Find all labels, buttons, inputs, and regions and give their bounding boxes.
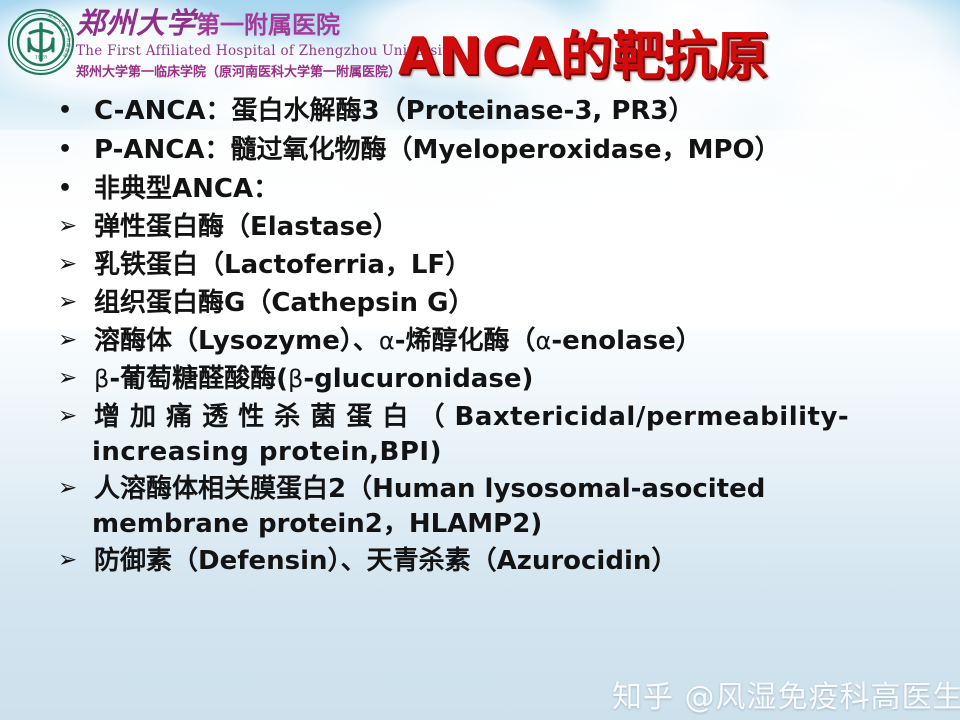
list-item: ➢ 增 加 痛 透 性 杀 菌 蛋 白 （ Baxtericidal/perme… (52, 404, 932, 465)
list-item-label: 乳铁蛋白（Lactoferria，LF） (94, 252, 932, 278)
presentation-slide: 1928 郑州大学第一附属医院 郑州大学第一附属医院 The First Aff… (0, 0, 960, 720)
list-item: • P-ANCA：髓过氧化物酶（Myeloperoxidase，MPO） (52, 137, 932, 163)
slide-title: ANCA的靶抗原 (398, 14, 768, 89)
hlamp2-line-2: membrane protein2，HLAMP2) (92, 511, 932, 537)
bpi-line-1: 增 加 痛 透 性 杀 菌 蛋 白 （ Baxtericidal/permeab… (94, 402, 849, 432)
zhihu-watermark: 知乎 @风湿免疫科高医生 (612, 672, 960, 716)
bullet-dot-icon: • (52, 176, 94, 200)
list-item-label: 组织蛋白酶G（Cathepsin G） (94, 290, 932, 316)
lysozyme-text-mid: -烯醇化酶（ (395, 326, 536, 356)
hospital-name-block: 郑州大学第一附属医院 The First Affiliated Hospital… (76, 8, 376, 80)
slide-header: 1928 郑州大学第一附属医院 郑州大学第一附属医院 The First Aff… (0, 0, 960, 92)
slide-body-list: • C-ANCA：蛋白水解酶3（Proteinase-3, PR3） • P-A… (52, 98, 932, 584)
lysozyme-text-pre: 溶酶体（Lysozyme）、 (94, 326, 379, 356)
list-item: • C-ANCA：蛋白水解酶3（Proteinase-3, PR3） (52, 98, 932, 124)
beta-symbol: β (94, 365, 109, 393)
glucuronidase-text-mid: -葡萄糖醛酸酶( (109, 364, 288, 394)
list-item-label: 增 加 痛 透 性 杀 菌 蛋 白 （ Baxtericidal/permeab… (94, 404, 932, 465)
bullet-arrow-icon: ➢ (52, 290, 94, 314)
svg-text:1928: 1928 (35, 55, 48, 61)
list-item: ➢ 防御素（Defensin）、天青杀素（Azurocidin） (52, 548, 932, 574)
bullet-arrow-icon: ➢ (52, 476, 94, 500)
hlamp2-line-1: 人溶酶体相关膜蛋白2（Human lysosomal-asocited (94, 474, 765, 504)
list-item-label: β-葡萄糖醛酸酶(β-glucuronidase) (94, 366, 932, 392)
hospital-name-suffix: 第一附属医院 (196, 10, 340, 39)
list-item: ➢ 组织蛋白酶G（Cathepsin G） (52, 290, 932, 316)
bullet-arrow-icon: ➢ (52, 404, 94, 428)
bullet-arrow-icon: ➢ (52, 214, 94, 238)
hospital-logo-icon: 1928 郑州大学第一附属医院 (6, 7, 76, 77)
list-item-label: C-ANCA：蛋白水解酶3（Proteinase-3, PR3） (94, 98, 932, 124)
list-item-label: P-ANCA：髓过氧化物酶（Myeloperoxidase，MPO） (94, 137, 932, 163)
hospital-name-subline: 郑州大学第一临床学院（原河南医科大学第一附属医院） (76, 61, 376, 80)
list-item-label: 溶酶体（Lysozyme）、α-烯醇化酶（α-enolase） (94, 328, 932, 354)
hospital-name-university: 郑州大学 (76, 6, 196, 40)
beta-symbol: β (288, 365, 303, 393)
list-item: ➢ 人溶酶体相关膜蛋白2（Human lysosomal-asocitedmem… (52, 476, 932, 537)
list-item: ➢ 弹性蛋白酶（Elastase） (52, 214, 932, 240)
list-item-label: 弹性蛋白酶（Elastase） (94, 214, 932, 240)
bullet-dot-icon: • (52, 98, 94, 122)
bullet-arrow-icon: ➢ (52, 548, 94, 572)
alpha-symbol: α (379, 327, 395, 355)
bullet-arrow-icon: ➢ (52, 366, 94, 390)
hospital-name-english: The First Affiliated Hospital of Zhengzh… (76, 43, 376, 59)
glucuronidase-text-post: -glucuronidase) (303, 364, 533, 394)
list-item: ➢ 溶酶体（Lysozyme）、α-烯醇化酶（α-enolase） (52, 328, 932, 354)
list-item-label: 非典型ANCA： (94, 176, 932, 202)
list-item-label: 人溶酶体相关膜蛋白2（Human lysosomal-asocitedmembr… (94, 476, 932, 537)
lysozyme-text-post: -enolase） (551, 326, 701, 356)
alpha-symbol: α (536, 327, 552, 355)
bullet-arrow-icon: ➢ (52, 252, 94, 276)
bullet-dot-icon: • (52, 137, 94, 161)
hospital-name-main: 郑州大学第一附属医院 (76, 8, 376, 40)
bullet-arrow-icon: ➢ (52, 328, 94, 352)
list-item: ➢ 乳铁蛋白（Lactoferria，LF） (52, 252, 932, 278)
bpi-line-2: increasing protein,BPI) (92, 439, 932, 465)
list-item-label: 防御素（Defensin）、天青杀素（Azurocidin） (94, 548, 932, 574)
list-item: ➢ β-葡萄糖醛酸酶(β-glucuronidase) (52, 366, 932, 392)
list-item: • 非典型ANCA： (52, 176, 932, 202)
